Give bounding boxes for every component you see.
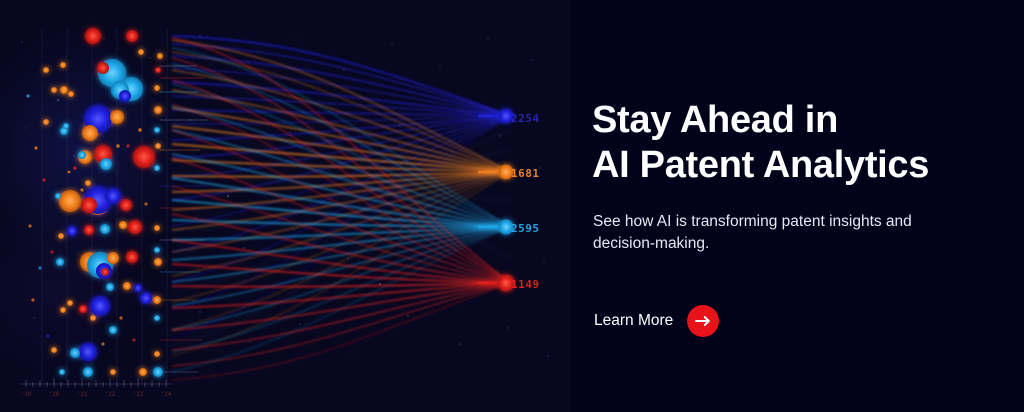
- svg-text:'22: '22: [105, 391, 116, 398]
- hero-banner: '19 '20 '21 '22 '23 '24 2254: [0, 0, 1024, 412]
- node-blue-label: 2254: [511, 112, 540, 125]
- bottom-axis: '19 '20 '21 '22 '23 '24: [20, 378, 172, 398]
- patent-network-visualization: '19 '20 '21 '22 '23 '24 2254: [0, 0, 570, 412]
- axis-tick-labels: '19 '20 '21 '22 '23 '24: [21, 391, 172, 398]
- svg-text:'23: '23: [133, 391, 144, 398]
- headline-line-1: Stay Ahead in: [592, 99, 838, 141]
- page-title: Stay Ahead inAI Patent Analytics: [592, 98, 992, 188]
- headline-line-2: AI Patent Analytics: [592, 143, 992, 188]
- arrow-right-icon[interactable]: [687, 305, 719, 337]
- bubble-scatter-cluster: [43, 28, 163, 377]
- svg-text:'19: '19: [21, 391, 32, 398]
- svg-text:'20: '20: [49, 391, 60, 398]
- learn-more-label: Learn More: [594, 312, 673, 330]
- node-orange-label: 1681: [511, 167, 540, 180]
- viz-canvas: '19 '20 '21 '22 '23 '24: [0, 0, 570, 412]
- svg-text:'24: '24: [161, 391, 172, 398]
- svg-text:'21: '21: [77, 391, 88, 398]
- hero-subtitle: See how AI is transforming patent insigh…: [593, 211, 965, 255]
- node-cyan-label: 2595: [511, 222, 540, 235]
- hero-content: Stay Ahead inAI Patent Analytics See how…: [592, 0, 1024, 412]
- learn-more-button[interactable]: Learn More: [594, 305, 719, 337]
- node-red-label: 1149: [511, 278, 540, 291]
